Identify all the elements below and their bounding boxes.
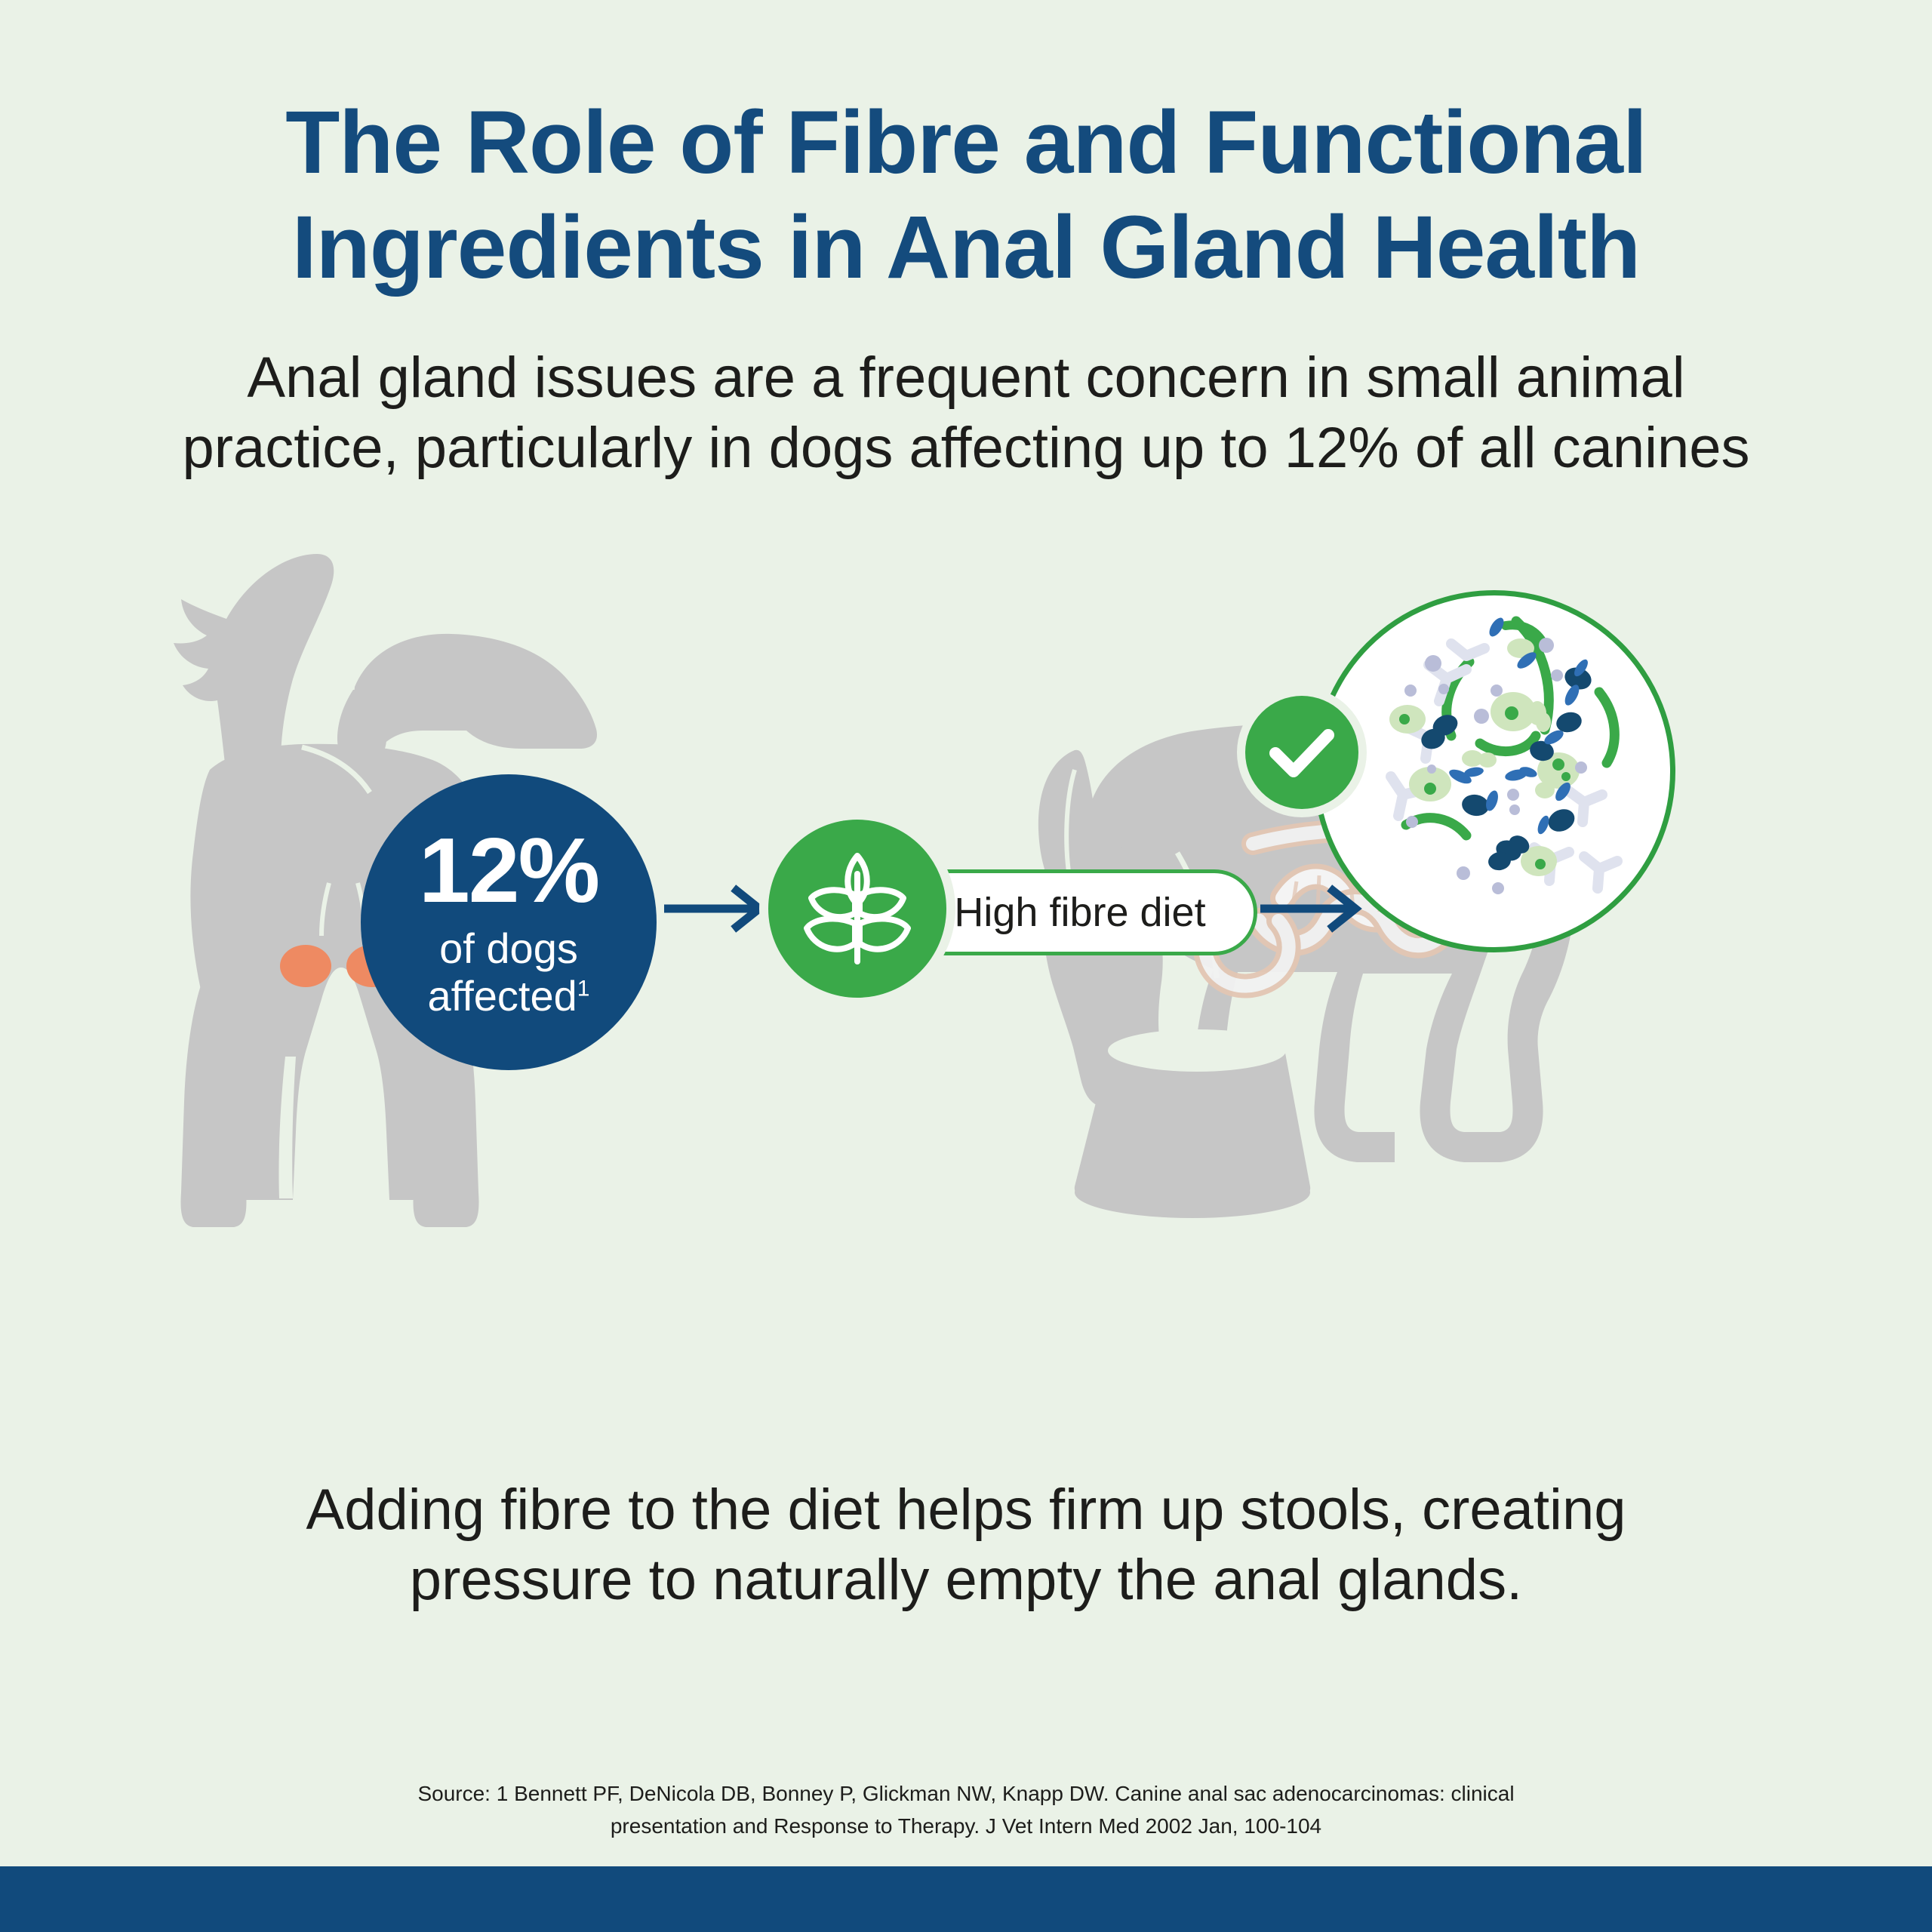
footnote-marker: 1 (577, 976, 590, 1001)
anal-gland-marker-left (280, 945, 331, 987)
subtitle: Anal gland issues are a frequent concern… (91, 343, 1841, 483)
check-icon-badge (1245, 696, 1358, 809)
stat-label-text: affected (428, 972, 577, 1020)
conclusion-line-2: pressure to naturally empty the anal gla… (151, 1546, 1781, 1616)
high-fibre-diet-label: High fibre diet (903, 869, 1257, 955)
stat-circle-12-percent: 12% of dogs affected1 (361, 774, 657, 1070)
conclusion-text: Adding fibre to the diet helps firm up s… (151, 1475, 1781, 1615)
source-line-2: presentation and Response to Therapy. J … (287, 1810, 1645, 1842)
check-icon (1269, 728, 1334, 777)
stat-value: 12% (419, 824, 598, 916)
title-line-1: The Role of Fibre and Functional (211, 91, 1721, 195)
stat-label-line-2: affected1 (428, 973, 590, 1020)
footer-bar (0, 1866, 1932, 1932)
infographic-page: The Role of Fibre and Functional Ingredi… (0, 0, 1932, 1932)
stat-label: of dogs affected1 (428, 925, 590, 1020)
microbiome-icon (1313, 590, 1675, 952)
arrow-stat-to-diet (664, 884, 777, 933)
plant-leaf-icon-circle (768, 820, 946, 998)
source-line-1: Source: 1 Bennett PF, DeNicola DB, Bonne… (287, 1777, 1645, 1810)
high-fibre-diet-text: High fibre diet (954, 889, 1205, 936)
title-line-2: Ingredients in Anal Gland Health (211, 195, 1721, 300)
microbiome-disc (1313, 590, 1675, 952)
subtitle-line-1: Anal gland issues are a frequent concern… (91, 343, 1841, 414)
plant-leaf-icon (801, 848, 914, 969)
page-title: The Role of Fibre and Functional Ingredi… (211, 91, 1721, 300)
conclusion-line-1: Adding fibre to the diet helps firm up s… (151, 1475, 1781, 1546)
source-citation: Source: 1 Bennett PF, DeNicola DB, Bonne… (287, 1777, 1645, 1843)
subtitle-line-2: practice, particularly in dogs affecting… (91, 414, 1841, 484)
food-bowl (1075, 1029, 1310, 1218)
stat-label-line-1: of dogs (428, 925, 590, 973)
